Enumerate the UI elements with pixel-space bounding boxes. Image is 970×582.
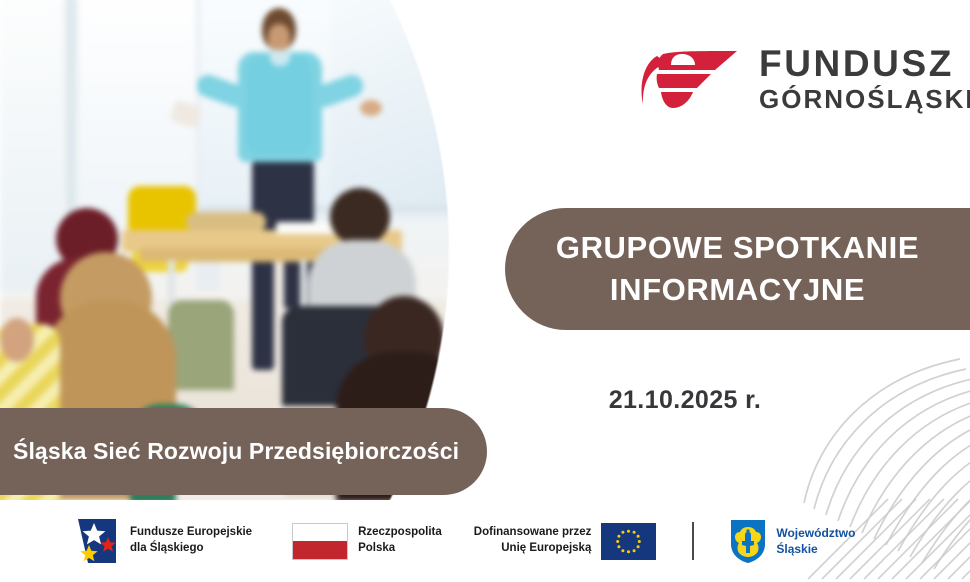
rp-label-line-1: Rzeczpospolita xyxy=(358,525,442,541)
title-line-2: INFORMACYJNE xyxy=(610,270,865,310)
footer-item-rzeczpospolita-polska: Rzeczpospolita Polska xyxy=(292,523,442,560)
footer-item-wojewodztwo-slaskie: Województwo Śląskie xyxy=(730,519,855,564)
footer-item-fundusze-europejskie: Fundusze Europejskie dla Śląskiego xyxy=(74,515,252,567)
poland-flag-icon xyxy=(292,523,348,560)
fundusze-europejskie-stars-icon xyxy=(74,515,120,567)
ue-label-line-2: Unię Europejską xyxy=(474,541,592,557)
fe-label-line-2: dla Śląskiego xyxy=(130,541,252,557)
ws-label-line-1: Województwo xyxy=(776,525,855,541)
rp-label-line-2: Polska xyxy=(358,541,442,557)
program-name-text: Śląska Sieć Rozwoju Przedsiębiorczości xyxy=(0,438,459,465)
fundusz-gornoslaski-wing-icon xyxy=(637,42,743,114)
ws-label-line-2: Śląskie xyxy=(776,541,855,557)
poster-canvas: FUNDUSZ GÓRNOŚLĄSKI GRUPOWE SPOTKANIE IN… xyxy=(0,0,970,582)
footer-logo-bar: Fundusze Europejskie dla Śląskiego Rzecz… xyxy=(0,505,970,577)
european-union-flag-icon xyxy=(601,523,656,560)
brand-line-2: GÓRNOŚLĄSKI xyxy=(759,86,970,112)
ue-label-line-1: Dofinansowane przez xyxy=(474,525,592,541)
brand-logo: FUNDUSZ GÓRNOŚLĄSKI xyxy=(637,42,970,114)
footer-divider xyxy=(692,522,694,560)
title-line-1: GRUPOWE SPOTKANIE xyxy=(556,228,919,268)
brand-line-1: FUNDUSZ xyxy=(759,45,970,82)
event-date: 21.10.2025 r. xyxy=(505,386,865,415)
wojewodztwo-slaskie-shield-icon xyxy=(730,519,766,564)
footer-item-unia-europejska: Dofinansowane przez Unię Europejską xyxy=(474,523,657,560)
title-banner: GRUPOWE SPOTKANIE INFORMACYJNE xyxy=(505,208,970,330)
fe-label-line-1: Fundusze Europejskie xyxy=(130,525,252,541)
program-name-banner: Śląska Sieć Rozwoju Przedsiębiorczości xyxy=(0,408,487,495)
